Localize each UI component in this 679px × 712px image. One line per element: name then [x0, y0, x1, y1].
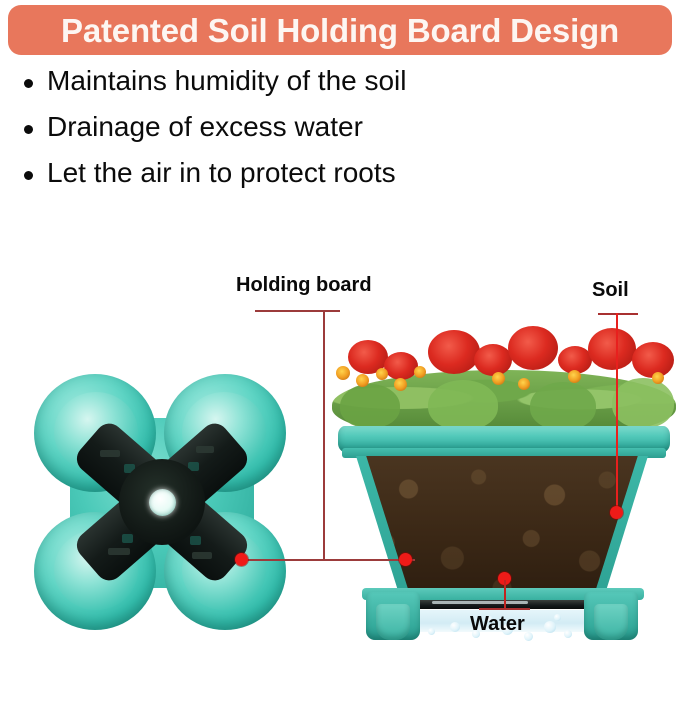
leader-line-water-stem: [504, 580, 506, 610]
leader-line-holding-board-stem: [323, 310, 325, 560]
flower-orange: [568, 370, 581, 383]
plant-foliage: [332, 322, 676, 434]
leader-line-soil-stem: [616, 313, 618, 512]
flower-orange: [652, 372, 664, 384]
leaf-cluster: [530, 382, 596, 430]
flower-orange: [414, 366, 426, 378]
root: [497, 648, 537, 657]
leaf-cluster: [340, 384, 400, 428]
marker-dot-holding-board-left: [235, 553, 248, 566]
root: [458, 648, 498, 657]
feature-text: Maintains humidity of the soil: [47, 66, 407, 96]
callout-label-soil: Soil: [592, 280, 629, 300]
board-detail: [100, 450, 120, 457]
soil-holding-board-topview: [64, 406, 260, 598]
flower-red: [428, 330, 480, 374]
flower-red: [474, 344, 512, 376]
leader-line-holding-board-rail: [243, 559, 415, 561]
feature-text: Drainage of excess water: [47, 112, 363, 142]
board-detail: [108, 548, 130, 555]
leader-line-holding-board-bar: [255, 310, 340, 312]
list-item: Maintains humidity of the soil: [18, 66, 578, 96]
water-bubble: [524, 632, 533, 641]
water-bubble: [428, 628, 435, 635]
bullet-icon: [24, 79, 33, 88]
top-view-pot: [12, 362, 312, 642]
list-item: Let the air in to protect roots: [18, 158, 578, 188]
leaf-cluster: [612, 378, 674, 428]
flower-orange: [518, 378, 530, 390]
flower-red: [508, 326, 558, 370]
callout-label-water: Water: [470, 614, 525, 634]
flower-red: [384, 352, 418, 380]
board-vent: [122, 534, 133, 543]
drain-hole: [149, 489, 176, 516]
product-diagram: Holding board Soil Water: [0, 250, 679, 646]
water-bubble: [564, 630, 572, 638]
board-detail: [192, 552, 212, 559]
list-item: Drainage of excess water: [18, 112, 578, 142]
water-bubble: [544, 621, 556, 633]
planter-foot-cup-left: [376, 604, 410, 640]
board-detail: [196, 446, 214, 453]
leader-line-soil-bar: [598, 313, 638, 315]
feature-text: Let the air in to protect roots: [47, 158, 396, 188]
bullet-icon: [24, 125, 33, 134]
flower-orange: [376, 368, 388, 380]
header-banner: Patented Soil Holding Board Design: [8, 5, 672, 55]
leader-line-water-bar: [479, 608, 530, 610]
page-title: Patented Soil Holding Board Design: [61, 14, 619, 47]
flower-red: [588, 328, 636, 370]
water-bubble: [554, 614, 561, 621]
board-highlight: [432, 601, 528, 604]
planter-foot-cup-right: [594, 604, 628, 640]
board-vent: [190, 536, 201, 545]
marker-dot-holding-board-right: [399, 553, 412, 566]
flower-orange: [492, 372, 505, 385]
flower-orange: [356, 374, 369, 387]
leaf-cluster: [428, 380, 498, 430]
feature-list: Maintains humidity of the soil Drainage …: [18, 66, 578, 205]
flower-orange: [336, 366, 350, 380]
water-bubble: [450, 622, 460, 632]
bullet-icon: [24, 171, 33, 180]
marker-dot-soil: [610, 506, 623, 519]
flower-orange: [394, 378, 407, 391]
callout-label-holding-board: Holding board: [236, 275, 372, 295]
